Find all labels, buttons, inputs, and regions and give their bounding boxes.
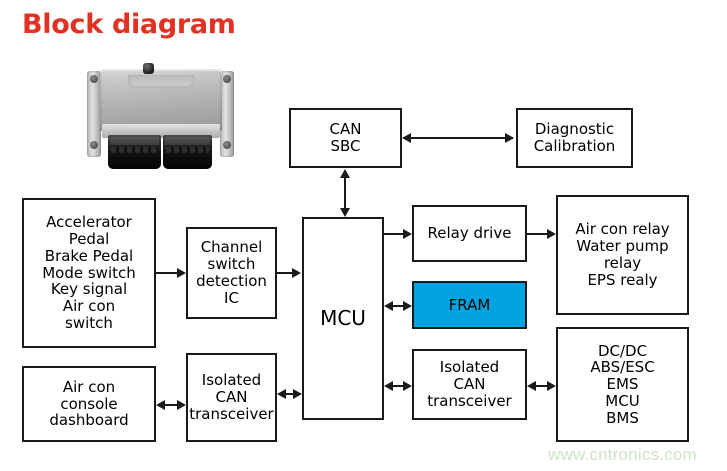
block-vehicle-systems[interactable]: DC/DC ABS/ESC EMS MCU BMS <box>556 327 689 442</box>
arrowhead-down-icon <box>340 208 350 217</box>
connector-can-sbc-to-diagnostic <box>405 137 513 139</box>
block-can-sbc[interactable]: CAN SBC <box>289 108 402 168</box>
ecu-housing-lid <box>100 69 222 131</box>
arrowhead-right-icon <box>547 229 556 239</box>
arrowhead-right-icon <box>403 381 412 391</box>
block-relay-drive[interactable]: Relay drive <box>412 205 527 262</box>
ecu-connector-ribs <box>166 147 209 153</box>
arrowhead-left-icon <box>384 301 393 311</box>
ecu-connector-shroud <box>110 137 159 145</box>
connector-channel-ic-to-mcu <box>277 272 293 274</box>
arrowhead-left-icon <box>527 381 536 391</box>
arrowhead-right-icon <box>177 268 186 278</box>
arrowhead-right-icon <box>403 229 412 239</box>
automotive-ecu-module-image <box>86 61 236 171</box>
arrowhead-left-icon <box>156 400 165 410</box>
arrowhead-right-icon <box>505 133 514 143</box>
block-mcu[interactable]: MCU <box>302 217 384 420</box>
ecu-lid-notch <box>128 75 194 88</box>
ecu-bracket-right-icon <box>220 71 234 157</box>
ecu-mount-hole-icon <box>223 75 231 83</box>
ecu-mount-hole-icon <box>223 141 231 149</box>
block-isolated-can-transceiver-left[interactable]: Isolated CAN transceiver <box>186 353 277 442</box>
block-diagram-canvas: Block diagram CAN SBC Diagnostic Calibra… <box>0 0 727 471</box>
block-isolated-can-transceiver-right[interactable]: Isolated CAN transceiver <box>412 349 527 420</box>
page-title: Block diagram <box>22 9 236 40</box>
site-watermark: www.cntronics.com <box>548 445 697 465</box>
ecu-connector-shroud <box>165 137 210 145</box>
ecu-connector-right <box>163 135 212 169</box>
connector-inputs-to-channel-ic <box>156 272 178 274</box>
block-air-con-console-dashboard[interactable]: Air con console dashboard <box>22 366 156 442</box>
ecu-bolt-icon <box>143 63 154 74</box>
ecu-mount-hole-icon <box>90 75 98 83</box>
block-relay-loads[interactable]: Air con relay Water pump relay EPS realy <box>556 195 689 315</box>
arrowhead-left-icon <box>277 389 286 399</box>
arrowhead-left-icon <box>402 133 411 143</box>
arrowhead-right-icon <box>292 268 301 278</box>
block-channel-switch-detection-ic[interactable]: Channel switch detection IC <box>186 227 277 319</box>
ecu-connector-left <box>108 135 161 169</box>
arrowhead-right-icon <box>547 381 556 391</box>
block-diagnostic-calibration[interactable]: Diagnostic Calibration <box>516 108 633 168</box>
arrowhead-right-icon <box>293 389 302 399</box>
ecu-connector-ribs <box>111 147 158 153</box>
arrowhead-right-icon <box>403 301 412 311</box>
arrowhead-up-icon <box>340 169 350 178</box>
block-fram[interactable]: FRAM <box>412 281 527 329</box>
ecu-bracket-left-icon <box>87 71 101 157</box>
block-inputs[interactable]: Accelerator Pedal Brake Pedal Mode switc… <box>22 198 156 348</box>
arrowhead-left-icon <box>384 381 393 391</box>
ecu-mount-hole-icon <box>90 141 98 149</box>
arrowhead-right-icon <box>177 400 186 410</box>
